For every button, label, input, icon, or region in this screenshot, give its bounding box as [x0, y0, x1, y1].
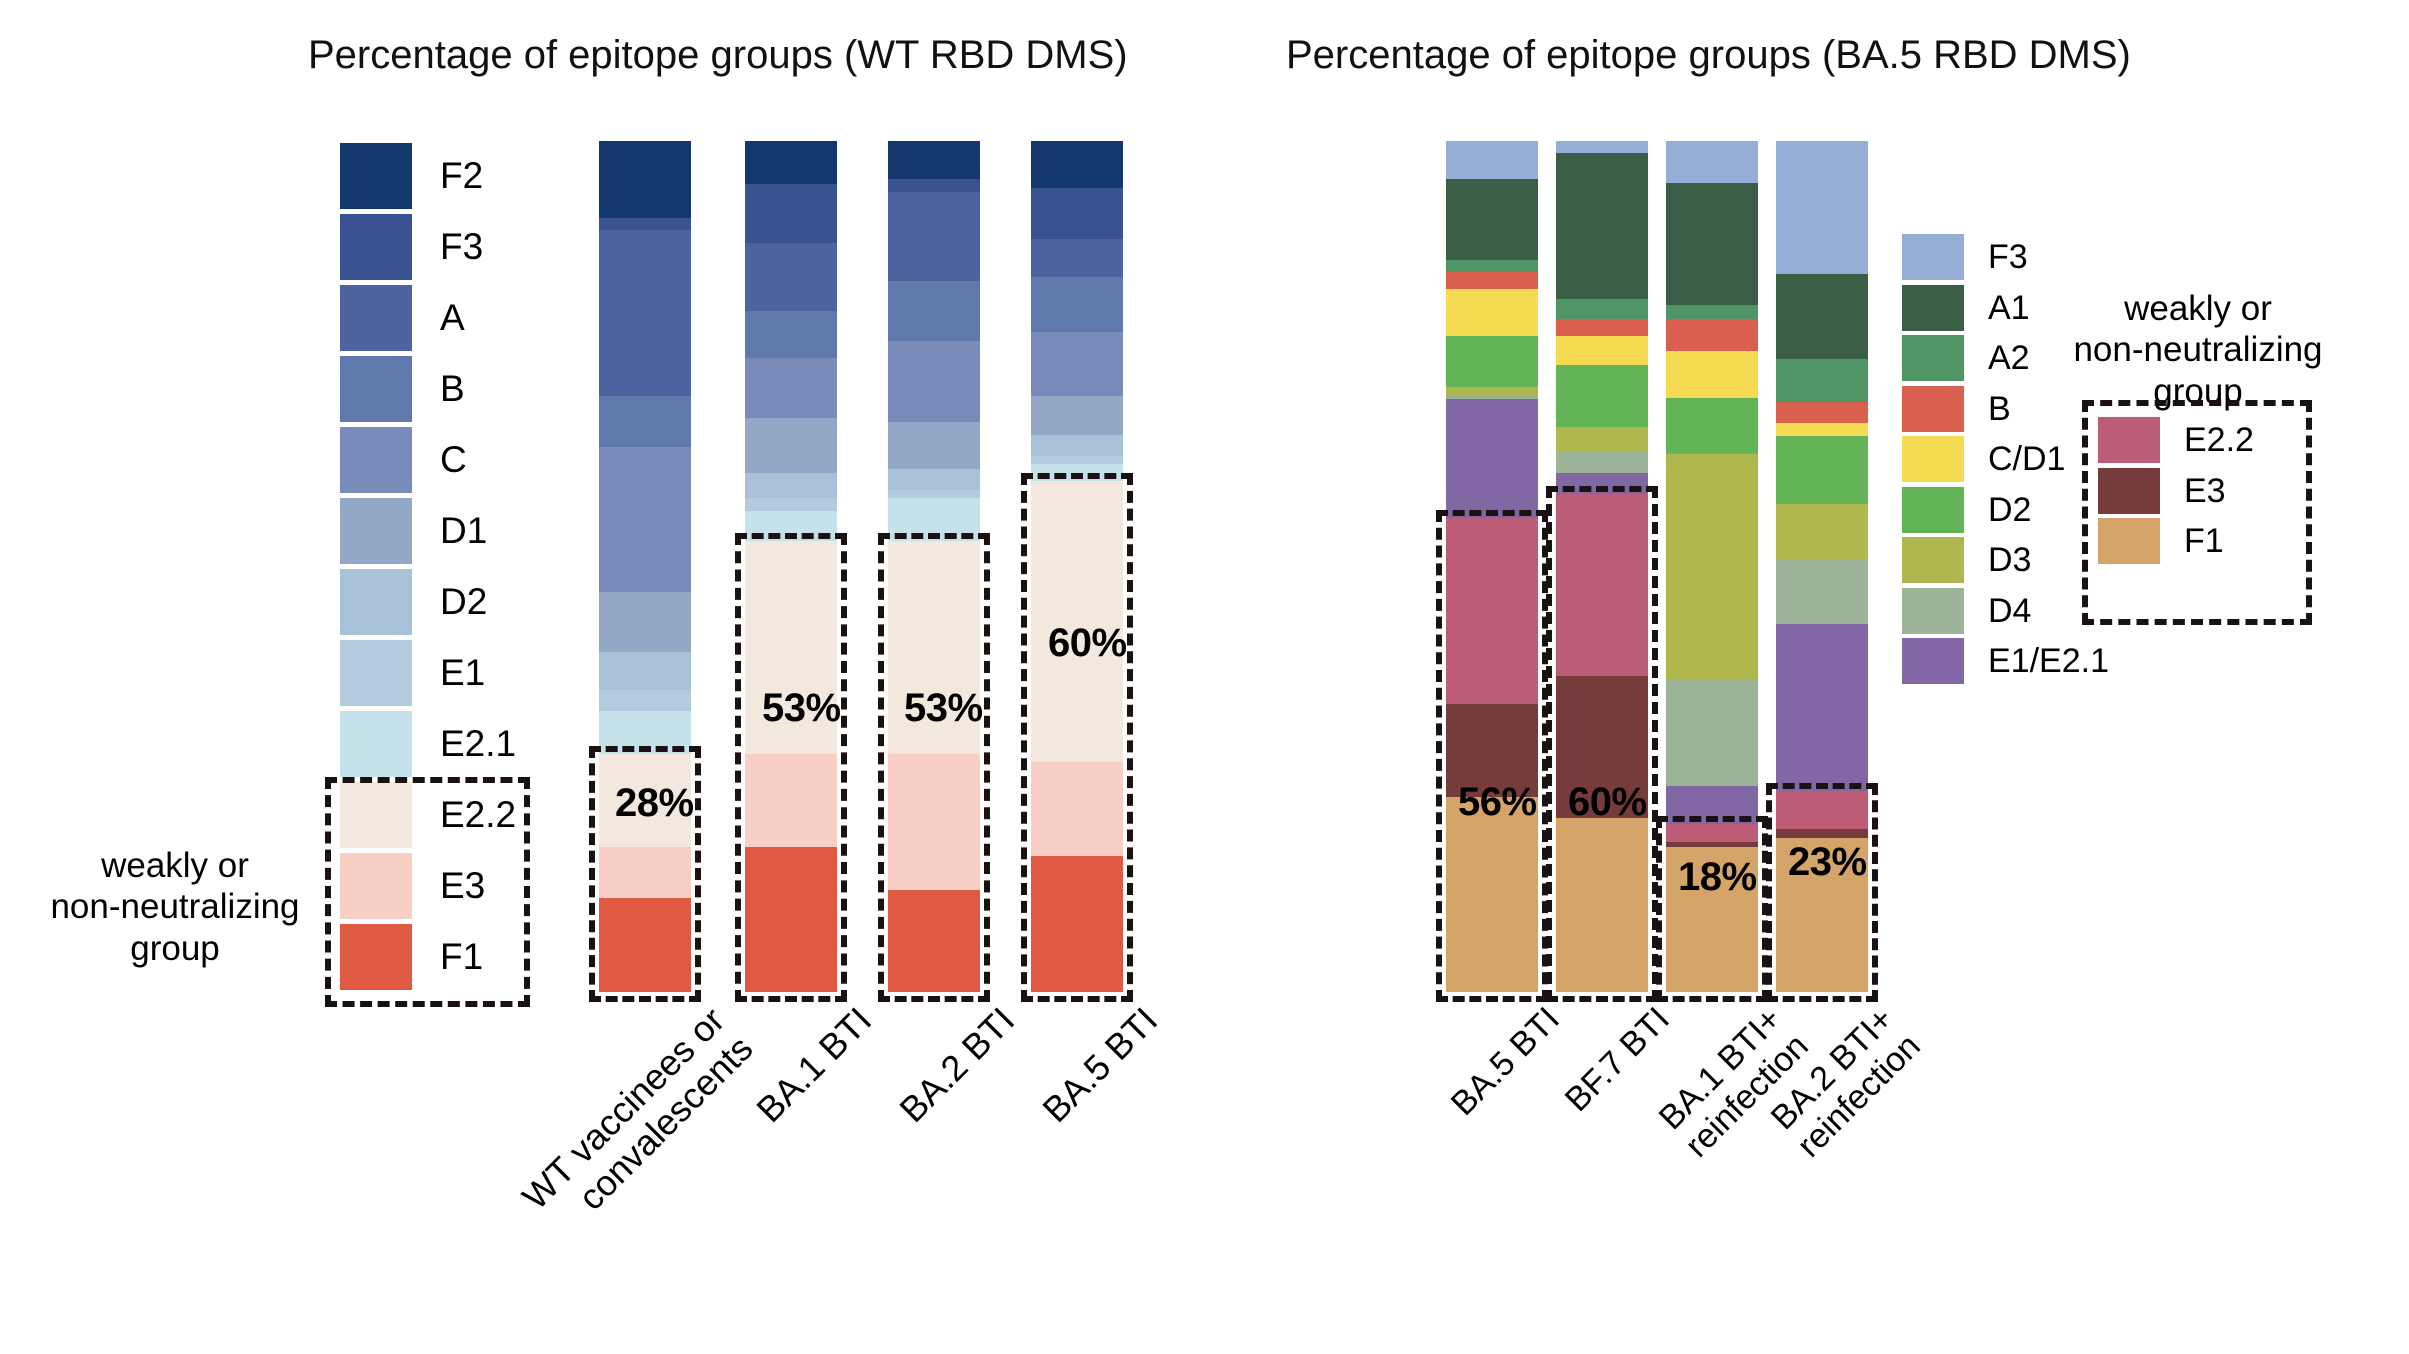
bar-segment-f1 [599, 898, 691, 992]
bar-segment-c [745, 358, 837, 418]
bar-segment-e1 [888, 490, 980, 499]
bar-segment-e1 [1031, 456, 1123, 465]
bar-segment-d2 [1776, 436, 1868, 504]
bar-segment-a2 [1556, 299, 1648, 320]
bar-segment-c-d1 [1446, 289, 1538, 336]
bar-segment-f1 [1031, 856, 1123, 992]
legend-swatch-icon [340, 143, 412, 209]
legend-swatch-icon [340, 214, 412, 280]
bar-segment-a2 [1446, 260, 1538, 273]
bar-segment-a [888, 192, 980, 281]
bar-segment-c [599, 447, 691, 592]
legend-swatch-icon [1902, 386, 1964, 432]
bar-segment-f3 [888, 179, 980, 192]
legend-item-e2-2: E2.2 [2098, 415, 2254, 466]
legend-item-f1: F1 [2098, 516, 2254, 567]
legend-swatch-icon [340, 782, 412, 848]
legend-item-label: E3 [440, 867, 485, 904]
bar-segment-d3 [1776, 504, 1868, 560]
stacked-bar [1031, 141, 1123, 992]
bar-segment-f1 [1446, 797, 1538, 992]
legend-item-d4: D4 [1902, 586, 2109, 637]
legend-item-label: F1 [440, 938, 483, 975]
legend-item-label: E1 [440, 654, 485, 691]
bar-segment-f3 [1776, 141, 1868, 274]
legend-swatch-icon [1902, 638, 1964, 684]
bar-segment-d2 [745, 473, 837, 499]
bar-segment-d2 [1556, 365, 1648, 427]
legend-item-c-d1: C/D1 [1902, 434, 2109, 485]
legend-item-e3: E3 [2098, 466, 2254, 517]
stacked-bar [745, 141, 837, 992]
bar-segment-c [888, 341, 980, 422]
bar-segment-e2-2 [1776, 791, 1868, 829]
panel-title-wt: Percentage of epitope groups (WT RBD DMS… [308, 33, 1128, 78]
bar-segment-e2-1 [888, 498, 980, 541]
bar-segment-b [1776, 402, 1868, 423]
bar-segment-e2-2 [1666, 824, 1758, 843]
legend-swatch-icon [340, 569, 412, 635]
legend-swatch-icon [2098, 417, 2160, 463]
bar-segment-a [1031, 239, 1123, 277]
weak-group-percentage-label: 23% [1788, 840, 1867, 885]
weak-group-percentage-label: 18% [1678, 855, 1757, 900]
legend-item-label: F1 [2184, 524, 2224, 558]
stacked-bar [599, 141, 691, 992]
bar-segment-e2-2 [1556, 494, 1648, 677]
bar-segment-f1 [888, 890, 980, 992]
legend-item-label: E1/E2.1 [1988, 644, 2109, 678]
bar-segment-e2-2 [1446, 518, 1538, 704]
legend-item-label: A2 [1988, 341, 2030, 375]
bar-segment-e1-e2-1 [1446, 399, 1538, 518]
legend-item-label: A [440, 299, 465, 336]
legend-item-label: E2.2 [440, 796, 516, 833]
bar-segment-e3 [745, 754, 837, 848]
bar-segment-f3 [599, 218, 691, 231]
legend-swatch-icon [1902, 436, 1964, 482]
legend-item-label: F3 [440, 228, 483, 265]
legend-item-label: C/D1 [1988, 442, 2065, 476]
legend-item-label: D2 [1988, 493, 2031, 527]
legend-item-f3: F3 [1902, 232, 2109, 283]
bar-segment-a [599, 230, 691, 396]
panel-wt-rbd-dms: Percentage of epitope groups (WT RBD DMS… [0, 0, 1210, 1241]
bar-segment-e1 [745, 498, 837, 511]
legend-item-label: A1 [1988, 291, 2030, 325]
legend-item-label: D2 [440, 583, 487, 620]
legend-item-label: F3 [1988, 240, 2028, 274]
bar-segment-e2-1 [1031, 464, 1123, 481]
bar-segment-b [1446, 272, 1538, 289]
bar-segment-b [745, 311, 837, 358]
legend-item-label: D1 [440, 512, 487, 549]
weak-group-percentage-label: 56% [1458, 780, 1537, 825]
bar-segment-f3 [1446, 141, 1538, 179]
weak-group-percentage-label: 60% [1048, 621, 1127, 666]
legend-item-label: B [1988, 392, 2011, 426]
legend-swatch-icon [1902, 487, 1964, 533]
weak-group-percentage-label: 60% [1568, 780, 1647, 825]
legend-swatch-icon [340, 924, 412, 990]
legend-item-a: A [340, 282, 516, 353]
legend-item-d2: D2 [340, 566, 516, 637]
bar-segment-d2 [599, 652, 691, 690]
bar-segment-a1 [1776, 274, 1868, 360]
x-tick-label: BA.5 BTI [840, 1000, 1165, 1325]
legend-item-d2: D2 [1902, 485, 2109, 536]
bar-segment-f2 [745, 141, 837, 184]
bar-segment-b [1031, 277, 1123, 332]
bar-segment-f2 [599, 141, 691, 218]
bar-segment-d4 [1556, 452, 1648, 473]
legend-swatch-icon [1902, 234, 1964, 280]
bar-segment-d3 [1666, 454, 1758, 678]
bar-segment-e1-e2-1 [1666, 786, 1758, 823]
bar-segment-a2 [1776, 359, 1868, 402]
legend-weak-ba5: E2.2E3F1 [2098, 415, 2254, 567]
legend-swatch-icon [340, 640, 412, 706]
bar-segment-d1 [745, 418, 837, 473]
legend-item-e1-e2-1: E1/E2.1 [1902, 636, 2109, 687]
bar-segment-a2 [1666, 305, 1758, 319]
stacked-bar [1556, 141, 1648, 992]
bar-segment-b [1556, 319, 1648, 336]
legend-item-f1: F1 [340, 921, 516, 992]
legend-item-label: F2 [440, 157, 483, 194]
bar-segment-a1 [1556, 153, 1648, 298]
legend-swatch-icon [2098, 518, 2160, 564]
legend-swatch-icon [2098, 468, 2160, 514]
bar-segment-d2 [1031, 435, 1123, 456]
legend-item-e1: E1 [340, 637, 516, 708]
bar-segment-c-d1 [1666, 351, 1758, 398]
bar-segment-a [745, 243, 837, 311]
bar-segment-c-d1 [1776, 423, 1868, 436]
bar-segment-e3 [888, 754, 980, 890]
bar-segment-f1 [1556, 818, 1648, 992]
bar-segment-e1-e2-1 [1776, 624, 1868, 791]
legend-item-label: D3 [1988, 543, 2031, 577]
legend-item-label: E3 [2184, 474, 2226, 508]
legend-wt: F2F3ABCD1D2E1E2.1E2.2E3F1 [340, 140, 516, 992]
bar-segment-c-d1 [1556, 336, 1648, 365]
stacked-bar [888, 141, 980, 992]
weak-group-percentage-label: 28% [615, 781, 694, 826]
legend-item-d3: D3 [1902, 535, 2109, 586]
legend-item-label: E2.1 [440, 725, 516, 762]
legend-item-label: B [440, 370, 465, 407]
bar-segment-b [1666, 319, 1758, 352]
bar-segment-d4 [1666, 679, 1758, 787]
legend-item-label: E2.2 [2184, 423, 2254, 457]
bar-segment-f2 [888, 141, 980, 179]
legend-swatch-icon [340, 498, 412, 564]
stacked-bar [1446, 141, 1538, 992]
legend-item-f2: F2 [340, 140, 516, 211]
legend-item-c: C [340, 424, 516, 495]
bar-segment-f1 [745, 847, 837, 992]
legend-item-f3: F3 [340, 211, 516, 282]
legend-swatch-icon [340, 285, 412, 351]
legend-item-d1: D1 [340, 495, 516, 566]
bar-segment-f3 [745, 184, 837, 244]
bar-segment-a1 [1666, 183, 1758, 305]
bar-segment-d1 [1031, 396, 1123, 434]
bar-segment-d2 [1446, 336, 1538, 387]
bar-segment-e3 [599, 847, 691, 898]
bar-segment-d4 [1776, 560, 1868, 624]
legend-swatch-icon [340, 427, 412, 493]
bar-segment-e1-e2-1 [1556, 473, 1648, 494]
bar-segment-b [888, 281, 980, 341]
bar-segment-d3 [1446, 387, 1538, 395]
bar-segment-f3 [1666, 141, 1758, 183]
legend-swatch-icon [340, 711, 412, 777]
bar-segment-d1 [888, 422, 980, 469]
bar-segment-e2-1 [599, 711, 691, 754]
weak-group-percentage-label: 53% [762, 686, 841, 731]
bar-segment-e3 [1776, 829, 1868, 838]
legend-item-e2-2: E2.2 [340, 779, 516, 850]
bar-segment-b [599, 396, 691, 447]
bar-segment-e3 [1031, 762, 1123, 856]
panel-title-ba5: Percentage of epitope groups (BA.5 RBD D… [1286, 33, 2131, 78]
legend-item-e2-1: E2.1 [340, 708, 516, 779]
bar-segment-a1 [1446, 179, 1538, 259]
bar-segment-e1 [599, 690, 691, 711]
bar-segment-d1 [599, 592, 691, 652]
bar-segment-e2-1 [745, 511, 837, 541]
legend-item-label: C [440, 441, 467, 478]
weak-group-percentage-label: 53% [904, 686, 983, 731]
legend-swatch-icon [1902, 588, 1964, 634]
legend-swatch-icon [1902, 537, 1964, 583]
bar-segment-f3 [1556, 141, 1648, 153]
bar-segment-d3 [1556, 427, 1648, 452]
bar-segment-d2 [1666, 398, 1758, 454]
bar-segment-f2 [1031, 141, 1123, 188]
panel-ba5-rbd-dms: Percentage of epitope groups (BA.5 RBD D… [1210, 0, 2409, 1241]
weak-group-caption-wt: weakly or non-neutralizing group [30, 845, 320, 969]
bar-segment-f3 [1031, 188, 1123, 239]
legend-item-e3: E3 [340, 850, 516, 921]
legend-swatch-icon [1902, 335, 1964, 381]
bar-segment-d2 [888, 469, 980, 490]
legend-swatch-icon [340, 853, 412, 919]
legend-item-b: B [340, 353, 516, 424]
legend-swatch-icon [1902, 285, 1964, 331]
bar-segment-c [1031, 332, 1123, 396]
weak-group-caption-ba5: weakly or non-neutralizing group [2048, 288, 2348, 412]
legend-item-label: D4 [1988, 594, 2031, 628]
legend-swatch-icon [340, 356, 412, 422]
